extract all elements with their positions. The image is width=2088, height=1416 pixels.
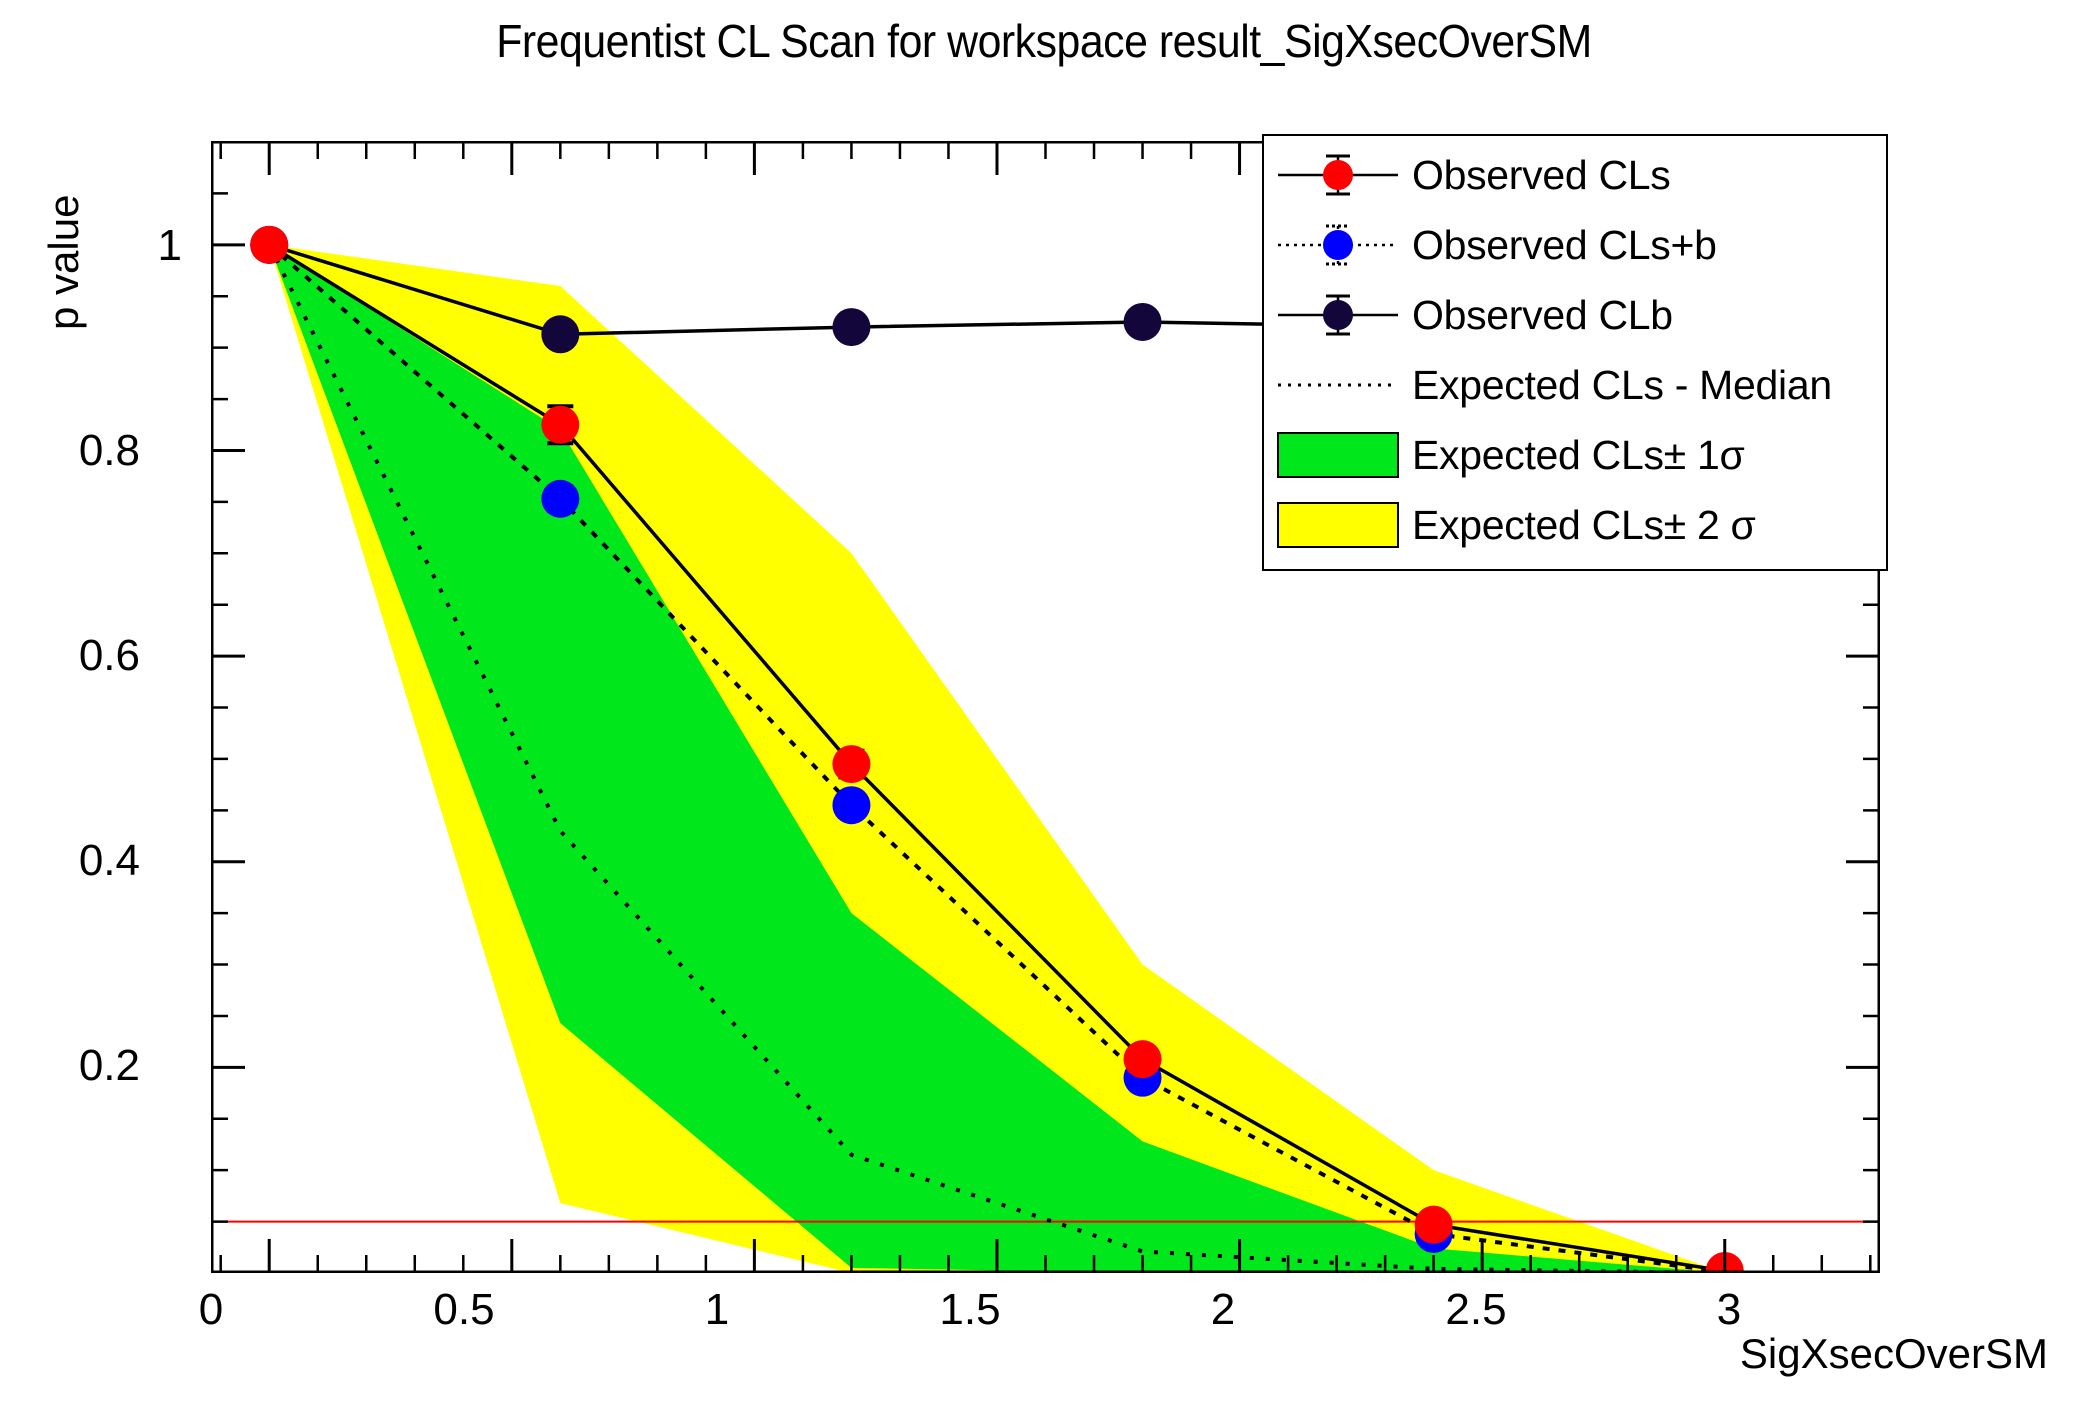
legend-label: Observed CLb — [1412, 292, 1673, 339]
chart-canvas: Frequentist CL Scan for workspace result… — [0, 0, 2088, 1416]
legend-item-expected-1sigma[interactable]: Expected CLs± 1σ — [1264, 424, 1890, 486]
x-tick-label-2p5: 2.5 — [1406, 1288, 1546, 1332]
marker-0-1 — [541, 406, 579, 444]
x-tick-label-1: 1 — [647, 1288, 787, 1332]
legend-key-navy-marker — [1264, 284, 1412, 346]
legend-label: Expected CLs± 2 σ — [1412, 502, 1756, 549]
y-tick-label-1: 1 — [62, 224, 182, 268]
page-title: Frequentist CL Scan for workspace result… — [73, 14, 2015, 68]
x-tick-label-0: 0 — [141, 1288, 281, 1332]
legend-label: Expected CLs - Median — [1412, 362, 1832, 409]
y-tick-label-0p2: 0.2 — [20, 1044, 140, 1088]
legend-key-green-swatch — [1264, 424, 1412, 486]
marker-0-4 — [1415, 1206, 1453, 1244]
legend-item-expected-median[interactable]: Expected CLs - Median — [1264, 354, 1890, 416]
marker-1-1 — [541, 480, 579, 518]
x-tick-label-2: 2 — [1153, 1288, 1293, 1332]
x-tick-label-0p5: 0.5 — [394, 1288, 534, 1332]
x-axis-label: SigXsecOverSM — [1740, 1330, 2048, 1378]
legend: Observed CLs Observed CLs+b — [1262, 134, 1888, 571]
legend-key-dotted-line — [1264, 354, 1412, 416]
marker-2-3 — [1124, 303, 1162, 341]
legend-item-expected-2sigma[interactable]: Expected CLs± 2 σ — [1264, 494, 1890, 556]
x-tick-label-3: 3 — [1659, 1288, 1799, 1332]
legend-label: Observed CLs+b — [1412, 222, 1717, 269]
x-tick-label-1p5: 1.5 — [900, 1288, 1040, 1332]
marker-2-2 — [832, 308, 870, 346]
legend-key-yellow-swatch — [1264, 494, 1412, 556]
marker-0-2 — [832, 745, 870, 783]
legend-label: Expected CLs± 1σ — [1412, 432, 1744, 479]
legend-item-observed-cls[interactable]: Observed CLs — [1264, 144, 1890, 206]
y-tick-label-0p8: 0.8 — [20, 429, 140, 473]
legend-label: Observed CLs — [1412, 152, 1670, 199]
marker-0-3 — [1124, 1040, 1162, 1078]
y-tick-label-0p4: 0.4 — [20, 839, 140, 883]
legend-key-red-marker — [1264, 144, 1412, 206]
marker-1-2 — [832, 786, 870, 824]
legend-item-observed-clsb[interactable]: Observed CLs+b — [1264, 214, 1890, 276]
legend-item-observed-clb[interactable]: Observed CLb — [1264, 284, 1890, 346]
legend-key-blue-marker — [1264, 214, 1412, 276]
marker-2-1 — [541, 315, 579, 353]
marker-0-0 — [250, 226, 288, 264]
y-tick-label-0p6: 0.6 — [20, 634, 140, 678]
